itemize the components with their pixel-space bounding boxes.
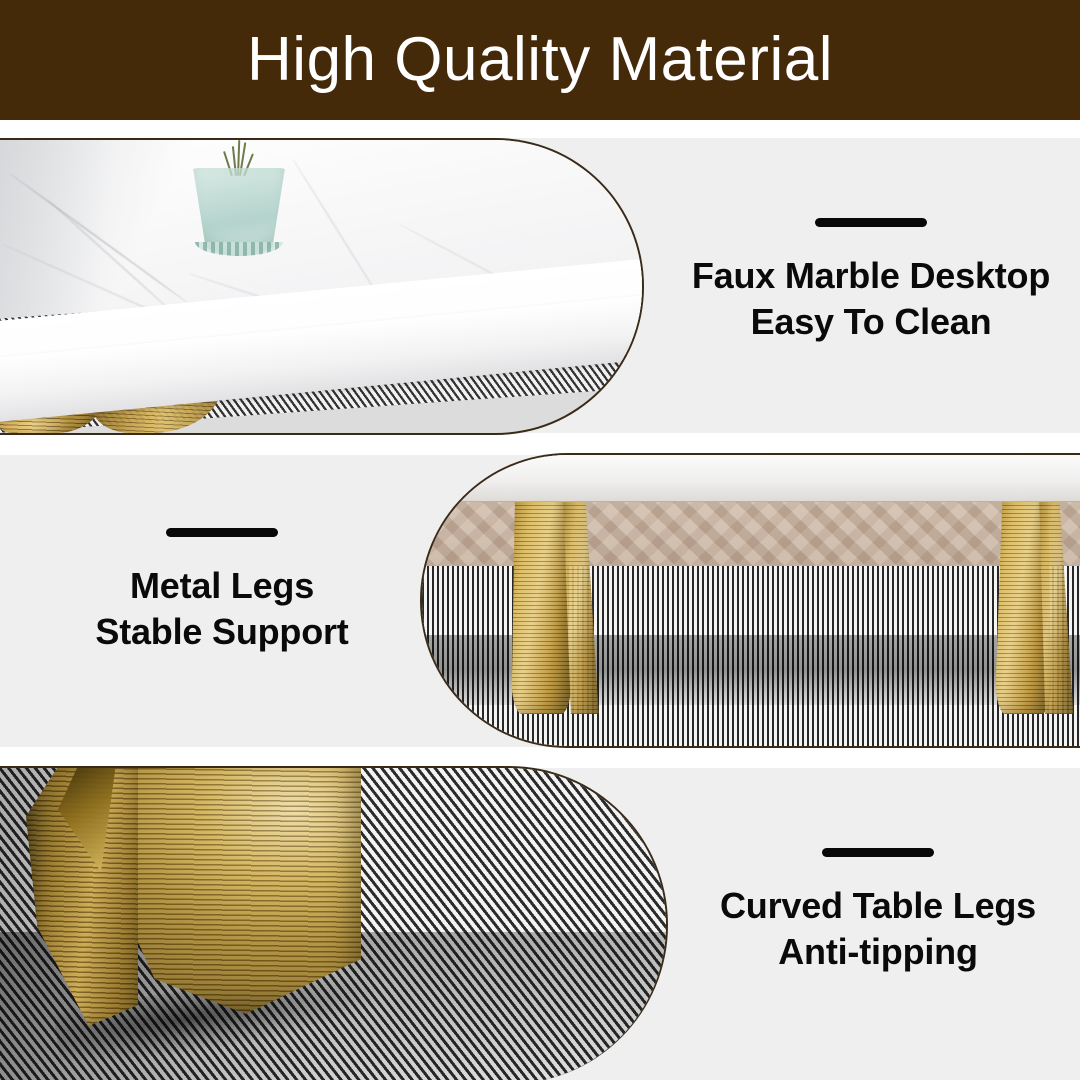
header-banner: High Quality Material: [0, 0, 1080, 120]
gold-table-leg-left: [511, 493, 572, 714]
glass-vase: [181, 140, 299, 260]
feature-headline-line2: Anti-tipping: [676, 929, 1080, 975]
feature-headline-line1: Curved Table Legs: [676, 883, 1080, 929]
metal-legs-scene: [422, 455, 1080, 746]
panel-divider-top: [0, 120, 1080, 138]
marble-scene: [0, 140, 642, 433]
accent-bar-icon: [166, 528, 278, 537]
marble-vein: [47, 200, 173, 313]
feature-headline-line2: Easy To Clean: [662, 299, 1080, 345]
marble-vein: [8, 172, 187, 303]
feature-image-curved-table-legs: [0, 766, 668, 1080]
feature-image-metal-legs: [420, 453, 1080, 748]
panel-divider-bottom: [0, 747, 1080, 768]
marble-table-underside: [422, 455, 1080, 502]
vase-rim: [195, 242, 283, 256]
feature-headline-line2: Stable Support: [22, 609, 422, 655]
panel-divider-middle: [0, 433, 1080, 455]
curved-leg-scene: [0, 768, 666, 1080]
page-title: High Quality Material: [247, 29, 833, 91]
infographic-page: High Quality Material: [0, 0, 1080, 1080]
accent-bar-icon: [815, 218, 927, 227]
feature-image-faux-marble-desktop: [0, 138, 644, 435]
feature-caption-metal-legs: Metal Legs Stable Support: [22, 528, 422, 655]
feature-caption-curved-table-legs: Curved Table Legs Anti-tipping: [676, 848, 1080, 975]
accent-bar-icon: [822, 848, 934, 857]
feature-caption-faux-marble-desktop: Faux Marble Desktop Easy To Clean: [662, 218, 1080, 345]
feature-headline-line1: Metal Legs: [22, 563, 422, 609]
feature-headline-line1: Faux Marble Desktop: [662, 253, 1080, 299]
